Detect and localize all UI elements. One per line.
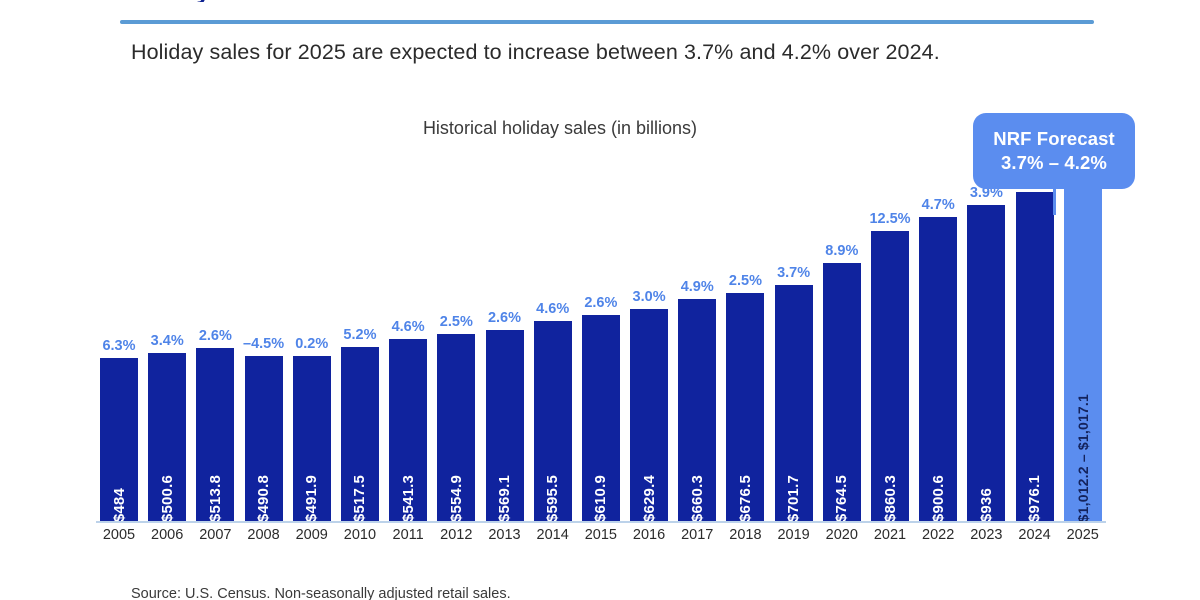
bar[interactable]: $569.1 (486, 330, 524, 522)
bar[interactable]: $629.4 (630, 309, 668, 522)
bar-column: 4.6%$595.5 (530, 150, 576, 522)
bar[interactable]: $701.7 (775, 285, 813, 522)
bar-column: 6.3%$484 (96, 150, 142, 522)
bar-growth-label: 2.6% (199, 328, 232, 344)
bar[interactable]: $900.6 (919, 217, 957, 522)
bar-value-label: $595.5 (544, 467, 561, 522)
x-axis-tick-label: 2016 (626, 526, 672, 544)
bar-value-label: $629.4 (641, 467, 658, 522)
bar-chart-plot: 6.3%$4843.4%$500.62.6%$513.8–4.5%$490.80… (96, 150, 1106, 522)
chart-caption: Historical holiday sales (in billions) (0, 118, 1120, 139)
page-title-clipped: Holiday sales (120, 0, 1080, 2)
bar-value-label: $513.8 (207, 467, 224, 522)
x-axis-tick-label: 2020 (819, 526, 865, 544)
bar-series: 6.3%$4843.4%$500.62.6%$513.8–4.5%$490.80… (96, 150, 1106, 522)
bar-value-label: $660.3 (689, 467, 706, 522)
bar[interactable]: $676.5 (726, 293, 764, 522)
x-axis-tick-label: 2006 (144, 526, 190, 544)
bar-growth-label: 4.7% (922, 197, 955, 213)
bar-value-label: $1,012.2 – $1,017.1 (1075, 386, 1091, 522)
bar-column: 2.6%$569.1 (482, 150, 528, 522)
bar-value-label: $701.7 (785, 467, 802, 522)
bar-column: 4.7%$900.6 (915, 150, 961, 522)
bar-column: $1,012.2 – $1,017.1 (1060, 150, 1106, 522)
bar-value-label: $554.9 (448, 467, 465, 522)
bar-growth-label: 12.5% (869, 211, 910, 227)
bar-column: 2.5%$676.5 (722, 150, 768, 522)
bar[interactable]: $500.6 (148, 353, 186, 522)
x-axis-tick-label: 2010 (337, 526, 383, 544)
bar-column: 2.6%$513.8 (192, 150, 238, 522)
bar-column: 4.6%$541.3 (385, 150, 431, 522)
x-axis-tick-label: 2024 (1012, 526, 1058, 544)
bar[interactable]: $491.9 (293, 356, 331, 522)
bar[interactable]: $490.8 (245, 356, 283, 522)
x-axis-tick-label: 2009 (289, 526, 335, 544)
bar-growth-label: 4.6% (392, 319, 425, 335)
bar-value-label: $610.9 (592, 467, 609, 522)
nrf-forecast-callout: NRF Forecast 3.7% – 4.2% (973, 113, 1135, 189)
bar-growth-label: –4.5% (243, 336, 284, 352)
callout-title: NRF Forecast (993, 128, 1114, 150)
bar-column: 12.5%$860.3 (867, 150, 913, 522)
bar-value-label: $541.3 (400, 467, 417, 522)
x-axis-line (96, 521, 1106, 523)
x-axis-tick-label: 2019 (771, 526, 817, 544)
bar-growth-label: 3.4% (151, 333, 184, 349)
bar-value-label: $676.5 (737, 467, 754, 522)
bar-growth-label: 3.0% (633, 289, 666, 305)
bar-growth-label: 3.7% (777, 265, 810, 281)
x-axis-tick-label: 2017 (674, 526, 720, 544)
bar[interactable]: $513.8 (196, 348, 234, 522)
bar-column: 0.2%$491.9 (289, 150, 335, 522)
x-axis-tick-label: 2015 (578, 526, 624, 544)
bar[interactable]: $554.9 (437, 334, 475, 522)
subtitle: Holiday sales for 2025 are expected to i… (131, 40, 1111, 65)
x-axis-tick-label: 2013 (482, 526, 528, 544)
x-axis-tick-label: 2014 (530, 526, 576, 544)
holiday-sales-infographic: Holiday sales Holiday sales for 2025 are… (0, 0, 1200, 600)
x-axis-tick-label: 2005 (96, 526, 142, 544)
bar-value-label: $569.1 (496, 467, 513, 522)
bar-column: 3.4%$500.6 (144, 150, 190, 522)
x-axis-tick-label: 2022 (915, 526, 961, 544)
bar-column: 2.5%$554.9 (433, 150, 479, 522)
bar-column: 4.3%$976.1 (1012, 150, 1058, 522)
source-note: Source: U.S. Census. Non-seasonally adju… (131, 586, 511, 600)
bar-value-label: $484 (111, 480, 128, 522)
bar-column: –4.5%$490.8 (241, 150, 287, 522)
bar-value-label: $936 (978, 480, 995, 522)
x-axis-tick-label: 2007 (192, 526, 238, 544)
page-title: Holiday sales (120, 0, 1080, 2)
bar[interactable]: $541.3 (389, 339, 427, 522)
bar-value-label: $976.1 (1026, 467, 1043, 522)
bar[interactable]: $764.5 (823, 263, 861, 522)
x-axis-tick-label: 2011 (385, 526, 431, 544)
bar-growth-label: 4.9% (681, 279, 714, 295)
bar-value-label: $900.6 (930, 467, 947, 522)
x-axis-tick-label: 2018 (722, 526, 768, 544)
bar[interactable]: $610.9 (582, 315, 620, 522)
bar-growth-label: 8.9% (825, 243, 858, 259)
bar-growth-label: 2.6% (584, 295, 617, 311)
bar-growth-label: 2.5% (729, 273, 762, 289)
bar-value-label: $860.3 (882, 467, 899, 522)
bar[interactable]: $936 (967, 205, 1005, 522)
x-axis-labels: 2005200620072008200920102011201220132014… (96, 526, 1106, 544)
bar-column: 4.9%$660.3 (674, 150, 720, 522)
x-axis-tick-label: 2021 (867, 526, 913, 544)
bar-column: 2.6%$610.9 (578, 150, 624, 522)
bar-column: 8.9%$764.5 (819, 150, 865, 522)
forecast-bar[interactable]: $1,012.2 – $1,017.1 (1064, 179, 1102, 522)
bar-column: 5.2%$517.5 (337, 150, 383, 522)
bar-value-label: $500.6 (159, 467, 176, 522)
bar-growth-label: 2.6% (488, 310, 521, 326)
bar-value-label: $490.8 (255, 467, 272, 522)
x-axis-tick-label: 2012 (433, 526, 479, 544)
callout-range: 3.7% – 4.2% (1001, 152, 1107, 174)
bar-growth-label: 5.2% (343, 327, 376, 343)
bar-column: 3.0%$629.4 (626, 150, 672, 522)
x-axis-tick-label: 2023 (963, 526, 1009, 544)
bar-growth-label: 4.6% (536, 301, 569, 317)
bar-value-label: $764.5 (833, 467, 850, 522)
x-axis-tick-label: 2025 (1060, 526, 1106, 544)
bar[interactable]: $595.5 (534, 321, 572, 522)
bar-growth-label: 0.2% (295, 336, 328, 352)
header-divider (120, 20, 1094, 24)
bar-column: 3.7%$701.7 (771, 150, 817, 522)
bar[interactable]: $660.3 (678, 299, 716, 522)
bar-value-label: $491.9 (303, 467, 320, 522)
bar-column: 3.9%$936 (963, 150, 1009, 522)
bar[interactable]: $484 (100, 358, 138, 522)
bar-value-label: $517.5 (351, 467, 368, 522)
bar[interactable]: $976.1 (1016, 192, 1054, 522)
bar-growth-label: 6.3% (102, 338, 135, 354)
callout-connector-line (1053, 189, 1056, 215)
bar[interactable]: $517.5 (341, 347, 379, 522)
x-axis-tick-label: 2008 (241, 526, 287, 544)
bar[interactable]: $860.3 (871, 231, 909, 522)
bar-growth-label: 2.5% (440, 314, 473, 330)
